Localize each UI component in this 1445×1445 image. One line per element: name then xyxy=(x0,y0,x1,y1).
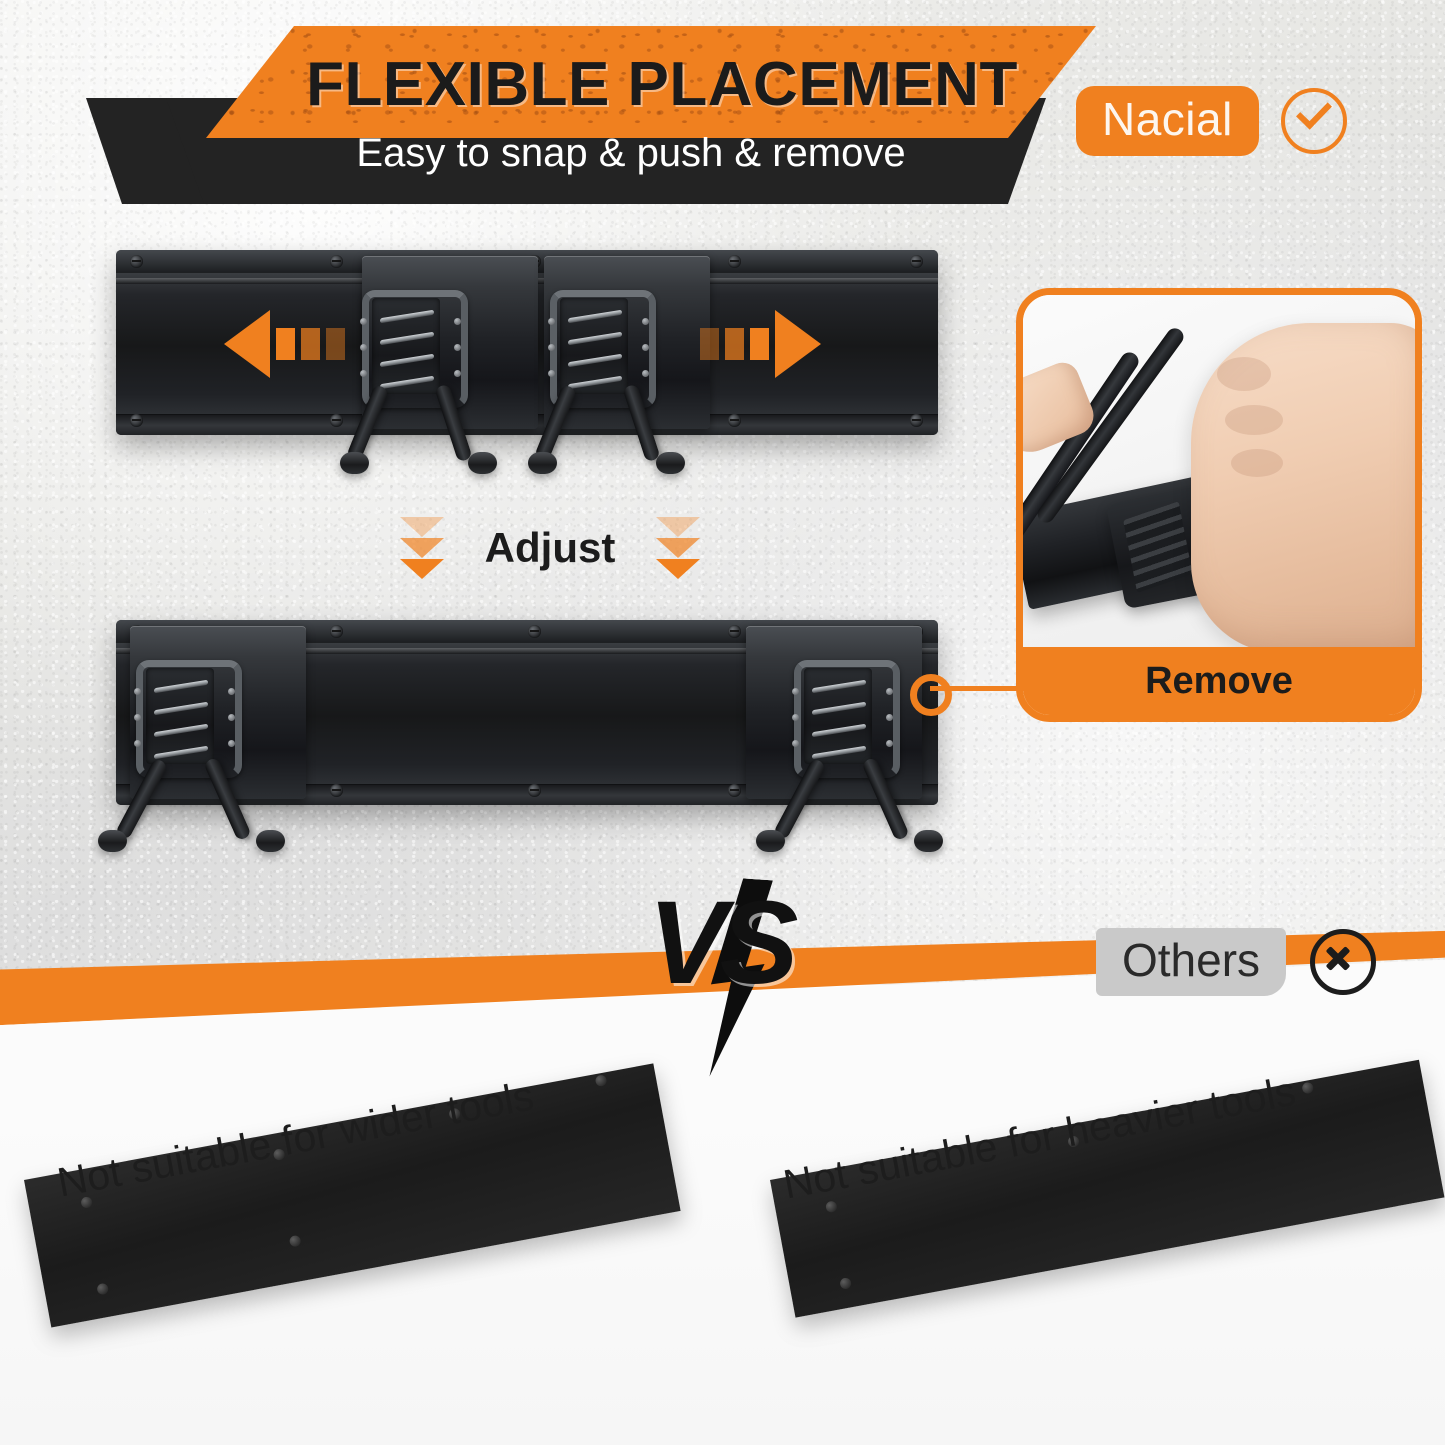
screw xyxy=(910,414,923,427)
hook-nub xyxy=(454,344,461,351)
screw xyxy=(130,255,143,268)
hook-nub xyxy=(134,688,141,695)
adjust-indicator: Adjust xyxy=(400,505,700,591)
vs-graphic: VS xyxy=(648,884,838,1074)
hook-nub xyxy=(454,318,461,325)
hook-nub xyxy=(642,344,649,351)
hook-bracket[interactable] xyxy=(132,652,252,852)
hook-nub xyxy=(228,714,235,721)
chevron-down-icon xyxy=(656,517,700,579)
hook-tip xyxy=(256,830,285,852)
comparison-right-panel: Not suitable for heavier tools xyxy=(740,1030,1445,1445)
adjust-label: Adjust xyxy=(485,524,616,572)
hook-nub xyxy=(548,370,555,377)
hook-nub xyxy=(454,370,461,377)
hand-graphic xyxy=(1191,323,1415,647)
hook-bracket[interactable] xyxy=(790,652,910,852)
screw xyxy=(528,625,541,638)
check-circle-icon xyxy=(1281,88,1347,154)
callout-dot-icon xyxy=(910,674,952,716)
hook-tip xyxy=(340,452,369,474)
hook-bracket[interactable] xyxy=(546,282,666,482)
headline-banner: FLEXIBLE PLACEMENT Easy to snap & push &… xyxy=(86,26,1096,204)
hook-nub xyxy=(134,714,141,721)
others-badge-label: Others xyxy=(1096,928,1286,996)
hook-tip xyxy=(756,830,785,852)
hook-nub xyxy=(360,370,367,377)
others-badge: Others xyxy=(1096,928,1376,996)
x-circle-icon xyxy=(1310,929,1376,995)
vs-label: VS xyxy=(648,884,791,1002)
hook-tip xyxy=(468,452,497,474)
screw xyxy=(728,255,741,268)
hook-nub xyxy=(228,740,235,747)
screw xyxy=(728,414,741,427)
hook-nub xyxy=(642,370,649,377)
hook-frame xyxy=(136,660,242,778)
screw xyxy=(130,414,143,427)
remove-inset-photo xyxy=(1023,295,1415,647)
hook-nub xyxy=(228,688,235,695)
hook-nub xyxy=(886,740,893,747)
hook-nub xyxy=(792,714,799,721)
hook-frame xyxy=(794,660,900,778)
hook-nub xyxy=(792,740,799,747)
callout-line xyxy=(930,686,1026,691)
arrow-right-icon xyxy=(700,310,821,378)
hook-tip xyxy=(914,830,943,852)
screw xyxy=(728,625,741,638)
screw xyxy=(330,625,343,638)
remove-inset-panel: Remove xyxy=(1016,288,1422,722)
hook-bracket[interactable] xyxy=(358,282,478,482)
banner-subtitle: Easy to snap & push & remove xyxy=(236,106,1026,200)
infographic-stage: FLEXIBLE PLACEMENT Easy to snap & push &… xyxy=(0,0,1445,1445)
screw xyxy=(910,255,923,268)
brand-badge: Nacial xyxy=(1076,86,1347,156)
hook-nub xyxy=(642,318,649,325)
screw xyxy=(330,414,343,427)
comparison-left-panel: Not suitable for wider tools xyxy=(0,1030,720,1445)
hook-nub xyxy=(792,688,799,695)
screw xyxy=(330,784,343,797)
chevron-down-icon xyxy=(400,517,444,579)
screw xyxy=(728,784,741,797)
hook-tip xyxy=(656,452,685,474)
hook-nub xyxy=(548,318,555,325)
remove-label: Remove xyxy=(1023,647,1415,715)
brand-badge-label: Nacial xyxy=(1076,86,1259,156)
hook-nub xyxy=(134,740,141,747)
arrow-left-icon xyxy=(224,310,345,378)
hook-nub xyxy=(360,318,367,325)
screw xyxy=(528,784,541,797)
hook-nub xyxy=(886,714,893,721)
hook-nub xyxy=(360,344,367,351)
hook-nub xyxy=(548,344,555,351)
hook-nub xyxy=(886,688,893,695)
hook-tip xyxy=(528,452,557,474)
screw xyxy=(330,255,343,268)
hook-tip xyxy=(98,830,127,852)
inset-hook-ribs xyxy=(1123,501,1192,593)
